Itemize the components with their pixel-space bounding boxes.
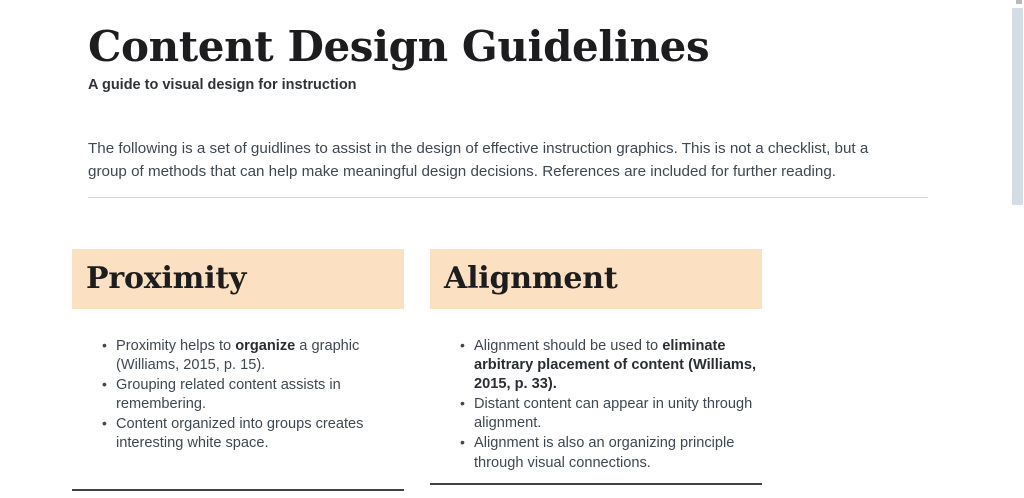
scrollbar-up-arrow-icon[interactable] — [1016, 0, 1022, 4]
intro-paragraph: The following is a set of guidlines to a… — [88, 95, 903, 183]
section-heading-proximity: Proximity — [72, 249, 404, 309]
guideline-column-proximity: Proximity Proximity helps to organize a … — [72, 249, 404, 491]
page-subtitle: A guide to visual design for instruction — [88, 77, 928, 94]
list-item-text: Alignment should be used to — [474, 338, 662, 354]
document-content: Content Design Guidelines A guide to vis… — [0, 0, 1008, 198]
bullet-list-alignment: Alignment should be used to eliminate ar… — [430, 309, 762, 473]
list-item-text: Grouping related content assists in reme… — [116, 377, 341, 412]
scrollbar-thumb[interactable] — [1012, 8, 1023, 205]
list-item: Grouping related content assists in reme… — [102, 376, 404, 414]
guideline-column-alignment: Alignment Alignment should be used to el… — [430, 249, 762, 491]
list-item: Proximity helps to organize a graphic (W… — [102, 337, 404, 375]
bullet-list-proximity: Proximity helps to organize a graphic (W… — [72, 309, 404, 454]
vertical-scrollbar[interactable] — [1008, 0, 1024, 498]
list-item-text: Proximity helps to — [116, 338, 235, 354]
list-item: Distant content can appear in unity thro… — [460, 395, 762, 433]
section-divider-alignment — [430, 483, 762, 485]
document-page: Content Design Guidelines A guide to vis… — [0, 0, 1008, 498]
list-item-text: Distant content can appear in unity thro… — [474, 396, 752, 431]
emphasis-text: organize — [235, 338, 295, 354]
guideline-columns: Proximity Proximity helps to organize a … — [0, 198, 1008, 491]
list-item: Content organized into groups creates in… — [102, 415, 404, 453]
section-divider-proximity — [72, 489, 404, 491]
list-item: Alignment should be used to eliminate ar… — [460, 337, 762, 394]
list-item: Alignment is also an organizing principl… — [460, 434, 762, 472]
list-item-text: Alignment is also an organizing principl… — [474, 435, 734, 470]
section-heading-alignment: Alignment — [430, 249, 762, 309]
page-title: Content Design Guidelines — [88, 24, 928, 69]
list-item-text: Content organized into groups creates in… — [116, 416, 363, 451]
